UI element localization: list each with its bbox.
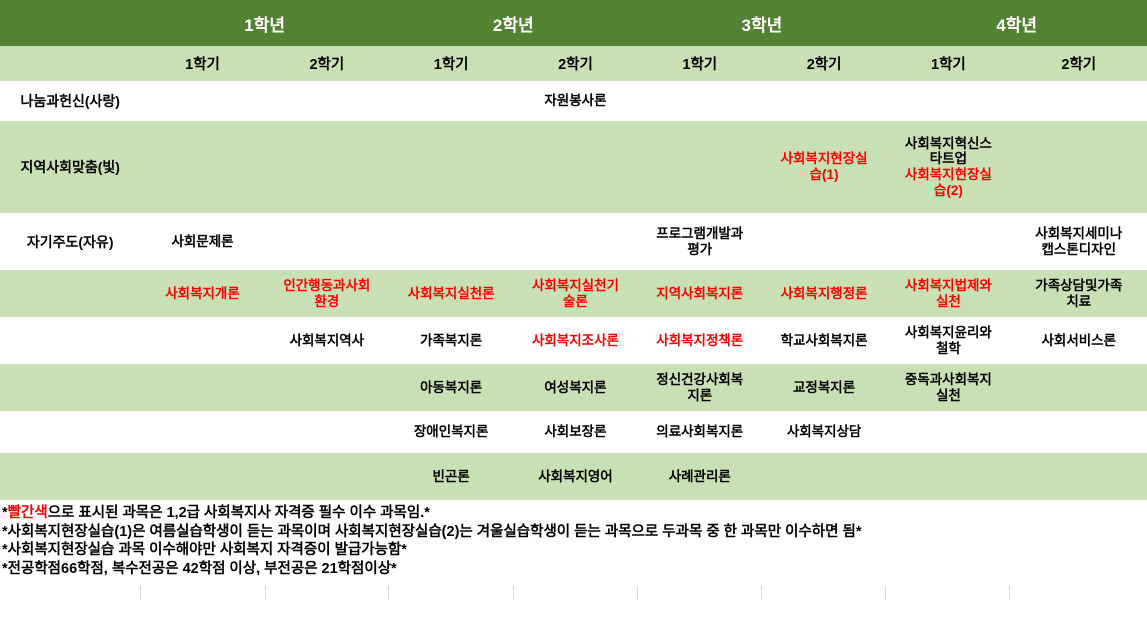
table-header: 1학년 2학년 3학년 4학년 1학기 2학기 1학기 2학기 1학기 2학기 … bbox=[0, 0, 1147, 81]
course-line: 지론 bbox=[640, 388, 760, 404]
table-row: 지역사회맞춤(빛)사회복지현장실습(1)사회복지혁신스타트업사회복지현장실습(2… bbox=[0, 121, 1147, 213]
gridline bbox=[265, 586, 266, 600]
gridline bbox=[1009, 586, 1010, 600]
course-cell bbox=[265, 453, 389, 500]
course-cell bbox=[762, 213, 886, 270]
course-cell: 사회보장론 bbox=[513, 411, 637, 453]
footnotes: *빨간색으로 표시된 과목은 1,2급 사회복지사 자격증 필수 이수 과목임.… bbox=[0, 504, 1147, 578]
course-cell bbox=[140, 317, 264, 364]
course-cell bbox=[886, 81, 1010, 121]
course-cell: 사례관리론 bbox=[638, 453, 762, 500]
course-cell bbox=[1011, 411, 1147, 453]
course-cell: 사회복지실천론 bbox=[389, 270, 513, 317]
course-line: 사회복지윤리와 bbox=[888, 325, 1008, 341]
course-cell: 중독과사회복지실천 bbox=[886, 364, 1010, 411]
semester-header-3: 1학기 bbox=[389, 46, 513, 81]
course-cell bbox=[1011, 364, 1147, 411]
course-cell: 자원봉사론 bbox=[513, 81, 637, 121]
course-line: 평가 bbox=[640, 242, 760, 258]
semester-header-7: 1학기 bbox=[886, 46, 1010, 81]
course-cell bbox=[140, 81, 264, 121]
course-line: 장애인복지론 bbox=[391, 424, 511, 440]
course-line: 사례관리론 bbox=[640, 469, 760, 485]
course-cell bbox=[389, 81, 513, 121]
footnote-text: 으로 표시된 과목은 1,2급 사회복지사 자격증 필수 이수 과목임.* bbox=[48, 505, 430, 521]
course-cell bbox=[265, 411, 389, 453]
course-cell bbox=[265, 364, 389, 411]
required-course-line: 사회복지실천론 bbox=[391, 286, 511, 302]
table-body: 나눔과헌신(사랑)자원봉사론지역사회맞춤(빛)사회복지현장실습(1)사회복지혁신… bbox=[0, 81, 1147, 500]
required-course-line: 인간행동과사회 bbox=[267, 278, 387, 294]
course-cell bbox=[140, 411, 264, 453]
year-header-3: 3학년 bbox=[638, 0, 887, 46]
footnote-line: *전공학점66학점, 복수전공은 42학점 이상, 부전공은 21학점이상* bbox=[0, 560, 1147, 579]
area-label-cell bbox=[0, 270, 140, 317]
required-course-line: 지역사회복지론 bbox=[640, 286, 760, 302]
required-course-line: 사회복지행정론 bbox=[764, 286, 884, 302]
gridline bbox=[637, 586, 638, 600]
course-cell bbox=[513, 213, 637, 270]
course-line: 철학 bbox=[888, 341, 1008, 357]
semester-header-4: 2학기 bbox=[513, 46, 637, 81]
course-cell bbox=[265, 81, 389, 121]
course-line: 사회보장론 bbox=[515, 424, 635, 440]
semester-header-5: 1학기 bbox=[638, 46, 762, 81]
course-line: 중독과사회복지 bbox=[888, 372, 1008, 388]
course-cell bbox=[265, 213, 389, 270]
column-gridlines bbox=[0, 586, 1147, 600]
course-cell: 사회복지영어 bbox=[513, 453, 637, 500]
semester-header-corner bbox=[0, 46, 140, 81]
curriculum-table: 1학년 2학년 3학년 4학년 1학기 2학기 1학기 2학기 1학기 2학기 … bbox=[0, 0, 1147, 500]
course-line: 학교사회복지론 bbox=[764, 333, 884, 349]
course-cell bbox=[886, 213, 1010, 270]
course-cell bbox=[886, 453, 1010, 500]
footnote-text: *사회복지현장실습(1)은 여름실습학생이 듣는 과목이며 사회복지현장실습(2… bbox=[2, 524, 861, 540]
footnote-line: *빨간색으로 표시된 과목은 1,2급 사회복지사 자격증 필수 이수 과목임.… bbox=[0, 504, 1147, 523]
course-line: 캡스톤디자인 bbox=[1013, 242, 1145, 258]
course-line: 사회서비스론 bbox=[1013, 333, 1145, 349]
course-cell: 학교사회복지론 bbox=[762, 317, 886, 364]
semester-header-row: 1학기 2학기 1학기 2학기 1학기 2학기 1학기 2학기 bbox=[0, 46, 1147, 81]
semester-header-2: 2학기 bbox=[265, 46, 389, 81]
course-cell bbox=[762, 81, 886, 121]
course-cell bbox=[389, 213, 513, 270]
curriculum-sheet: 1학년 2학년 3학년 4학년 1학기 2학기 1학기 2학기 1학기 2학기 … bbox=[0, 0, 1147, 619]
area-label-cell: 나눔과헌신(사랑) bbox=[0, 81, 140, 121]
course-line: 여성복지론 bbox=[515, 380, 635, 396]
course-line: 가족상담및가족 bbox=[1013, 278, 1145, 294]
table-row: 장애인복지론사회보장론의료사회복지론사회복지상담 bbox=[0, 411, 1147, 453]
area-label-cell: 자기주도(자유) bbox=[0, 213, 140, 270]
course-cell: 사회복지법제와실천 bbox=[886, 270, 1010, 317]
course-cell bbox=[638, 81, 762, 121]
course-line: 프로그램개발과 bbox=[640, 226, 760, 242]
course-cell: 사회복지조사론 bbox=[513, 317, 637, 364]
course-line: 가족복지론 bbox=[391, 333, 511, 349]
required-course-line: 사회복지조사론 bbox=[515, 333, 635, 349]
course-cell: 여성복지론 bbox=[513, 364, 637, 411]
course-cell bbox=[140, 121, 264, 213]
required-course-line: 습(2) bbox=[888, 183, 1008, 199]
footnote-text: *사회복지현장실습 과목 이수해야만 사회복지 자격증이 발급가능함* bbox=[2, 542, 407, 558]
course-cell: 사회복지역사 bbox=[265, 317, 389, 364]
course-line: 사회복지세미나 bbox=[1013, 226, 1145, 242]
course-cell: 사회문제론 bbox=[140, 213, 264, 270]
course-cell: 사회복지상담 bbox=[762, 411, 886, 453]
semester-header-6: 2학기 bbox=[762, 46, 886, 81]
course-line: 의료사회복지론 bbox=[640, 424, 760, 440]
course-cell: 사회복지윤리와철학 bbox=[886, 317, 1010, 364]
course-cell: 가족복지론 bbox=[389, 317, 513, 364]
course-line: 교정복지론 bbox=[764, 380, 884, 396]
course-line: 실천 bbox=[888, 388, 1008, 404]
course-cell: 사회복지현장실습(1) bbox=[762, 121, 886, 213]
course-cell bbox=[389, 121, 513, 213]
required-course-line: 사회복지정책론 bbox=[640, 333, 760, 349]
course-cell bbox=[762, 453, 886, 500]
area-label-cell bbox=[0, 317, 140, 364]
course-cell bbox=[1011, 453, 1147, 500]
course-cell: 빈곤론 bbox=[389, 453, 513, 500]
course-cell bbox=[886, 411, 1010, 453]
required-course-line: 사회복지실천기 bbox=[515, 278, 635, 294]
course-line: 사회복지역사 bbox=[267, 333, 387, 349]
year-header-1: 1학년 bbox=[140, 0, 389, 46]
gridline bbox=[761, 586, 762, 600]
course-cell: 사회서비스론 bbox=[1011, 317, 1147, 364]
course-cell: 프로그램개발과평가 bbox=[638, 213, 762, 270]
course-cell: 사회복지세미나캡스톤디자인 bbox=[1011, 213, 1147, 270]
header-corner-cell bbox=[0, 0, 140, 46]
course-cell bbox=[140, 364, 264, 411]
required-course-line: 사회복지현장실 bbox=[888, 167, 1008, 183]
required-course-line: 사회복지개론 bbox=[142, 286, 262, 302]
course-line: 정신건강사회복 bbox=[640, 372, 760, 388]
course-cell: 사회복지혁신스타트업사회복지현장실습(2) bbox=[886, 121, 1010, 213]
course-cell: 사회복지실천기술론 bbox=[513, 270, 637, 317]
table-row: 나눔과헌신(사랑)자원봉사론 bbox=[0, 81, 1147, 121]
gridline bbox=[885, 586, 886, 600]
required-course-line: 사회복지법제와 bbox=[888, 278, 1008, 294]
course-line: 치료 bbox=[1013, 294, 1145, 310]
semester-header-1: 1학기 bbox=[140, 46, 264, 81]
required-course-line: 환경 bbox=[267, 294, 387, 310]
course-cell: 가족상담및가족치료 bbox=[1011, 270, 1147, 317]
course-line: 아동복지론 bbox=[391, 380, 511, 396]
required-course-line: 습(1) bbox=[764, 167, 884, 183]
course-line: 사회복지상담 bbox=[764, 424, 884, 440]
gridline bbox=[388, 586, 389, 600]
gridline bbox=[140, 586, 141, 600]
course-line: 타트업 bbox=[888, 151, 1008, 167]
course-cell bbox=[638, 121, 762, 213]
semester-header-8: 2학기 bbox=[1011, 46, 1147, 81]
course-line: 사회복지혁신스 bbox=[888, 136, 1008, 152]
course-cell: 교정복지론 bbox=[762, 364, 886, 411]
course-cell: 사회복지행정론 bbox=[762, 270, 886, 317]
footnote-line: *사회복지현장실습 과목 이수해야만 사회복지 자격증이 발급가능함* bbox=[0, 541, 1147, 560]
course-cell: 장애인복지론 bbox=[389, 411, 513, 453]
table-row: 아동복지론여성복지론정신건강사회복지론교정복지론중독과사회복지실천 bbox=[0, 364, 1147, 411]
footnote-highlight: 빨간색 bbox=[8, 505, 48, 521]
course-cell bbox=[513, 121, 637, 213]
course-cell bbox=[1011, 121, 1147, 213]
course-cell: 사회복지정책론 bbox=[638, 317, 762, 364]
course-cell bbox=[140, 453, 264, 500]
year-header-row: 1학년 2학년 3학년 4학년 bbox=[0, 0, 1147, 46]
course-cell bbox=[1011, 81, 1147, 121]
course-cell bbox=[265, 121, 389, 213]
year-header-4: 4학년 bbox=[886, 0, 1147, 46]
footnote-line: *사회복지현장실습(1)은 여름실습학생이 듣는 과목이며 사회복지현장실습(2… bbox=[0, 523, 1147, 542]
course-cell: 의료사회복지론 bbox=[638, 411, 762, 453]
required-course-line: 실천 bbox=[888, 294, 1008, 310]
area-label-cell bbox=[0, 411, 140, 453]
course-line: 사회문제론 bbox=[142, 234, 262, 250]
course-cell: 지역사회복지론 bbox=[638, 270, 762, 317]
table-row: 사회복지역사가족복지론사회복지조사론사회복지정책론학교사회복지론사회복지윤리와철… bbox=[0, 317, 1147, 364]
course-line: 빈곤론 bbox=[391, 469, 511, 485]
course-line: 자원봉사론 bbox=[515, 93, 635, 109]
year-header-2: 2학년 bbox=[389, 0, 638, 46]
course-cell: 정신건강사회복지론 bbox=[638, 364, 762, 411]
course-cell: 아동복지론 bbox=[389, 364, 513, 411]
footnote-text: *전공학점66학점, 복수전공은 42학점 이상, 부전공은 21학점이상* bbox=[2, 561, 397, 577]
course-line: 사회복지영어 bbox=[515, 469, 635, 485]
table-row: 자기주도(자유)사회문제론프로그램개발과평가사회복지세미나캡스톤디자인 bbox=[0, 213, 1147, 270]
table-row: 사회복지개론인간행동과사회환경사회복지실천론사회복지실천기술론지역사회복지론사회… bbox=[0, 270, 1147, 317]
required-course-line: 사회복지현장실 bbox=[764, 151, 884, 167]
area-label-cell bbox=[0, 364, 140, 411]
area-label-cell: 지역사회맞춤(빛) bbox=[0, 121, 140, 213]
table-row: 빈곤론사회복지영어사례관리론 bbox=[0, 453, 1147, 500]
course-cell: 사회복지개론 bbox=[140, 270, 264, 317]
gridline bbox=[513, 586, 514, 600]
area-label-cell bbox=[0, 453, 140, 500]
course-cell: 인간행동과사회환경 bbox=[265, 270, 389, 317]
required-course-line: 술론 bbox=[515, 294, 635, 310]
